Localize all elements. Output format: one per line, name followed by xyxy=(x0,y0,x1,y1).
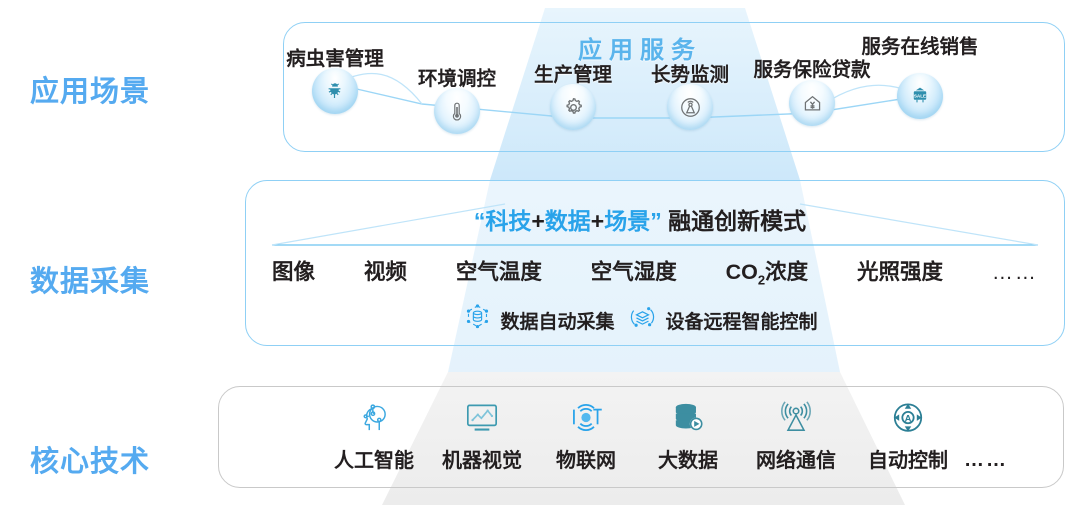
technology-item-list: 人工智能 机器视觉 xyxy=(320,396,1040,473)
bug-icon xyxy=(312,68,358,114)
svg-text:A: A xyxy=(905,413,912,424)
data-item-air-temp: 空气温度 xyxy=(456,255,542,286)
ai-head-icon xyxy=(353,396,395,440)
tech-item-label-autocontrol: 自动控制 xyxy=(868,444,948,473)
data-capability-auto-collect: 数据自动采集 xyxy=(462,302,614,338)
data-item-co2: CO2浓度 xyxy=(726,255,809,287)
row-label-application: 应用场景 xyxy=(30,68,150,110)
data-mode-part-6: 融通创新模式 xyxy=(662,208,806,234)
data-item-light: 光照强度 xyxy=(857,255,943,286)
row-label-technology: 核心技术 xyxy=(30,438,150,480)
app-node-label-insurance: 服务保险贷款 xyxy=(753,53,870,82)
data-mode-part-3: 数据 xyxy=(545,208,591,234)
signal-tower-icon xyxy=(667,84,713,130)
data-item-list: 图像 视频 空气温度 空气湿度 CO2浓度 光照强度 …… xyxy=(272,255,1038,287)
app-node-label-environment: 环境调控 xyxy=(418,62,496,91)
tech-item-label-vision: 机器视觉 xyxy=(442,444,522,473)
tech-item-label-ai: 人工智能 xyxy=(334,444,414,473)
data-capability-remote-control: 设备远程智能控制 xyxy=(628,302,818,338)
database-network-icon xyxy=(462,302,492,338)
database-stack-icon xyxy=(667,396,709,440)
app-node-label-pest: 病虫害管理 xyxy=(286,42,384,71)
tech-item-autocontrol: A 自动控制 xyxy=(852,396,964,473)
house-yuan-icon xyxy=(789,80,835,126)
data-item-video: 视频 xyxy=(364,255,407,286)
tech-item-iot: 物联网 xyxy=(536,396,636,473)
app-node-label-production: 生产管理 xyxy=(534,58,612,87)
row-label-data: 数据采集 xyxy=(30,258,150,300)
data-capability-label-auto-collect: 数据自动采集 xyxy=(500,307,614,334)
thermometer-icon xyxy=(434,88,480,134)
tech-item-ai: 人工智能 xyxy=(320,396,428,473)
data-mode-title: “科技+数据+场景” 融通创新模式 xyxy=(474,202,806,236)
tech-item-label-bigdata: 大数据 xyxy=(658,444,718,473)
sale-tag-icon: SALE xyxy=(897,73,943,119)
gear-icon xyxy=(550,84,596,130)
data-capability-label-remote-control: 设备远程智能控制 xyxy=(666,307,818,334)
data-capability-list: 数据自动采集 设备远程智能控制 xyxy=(462,302,817,338)
data-item-ellipsis: …… xyxy=(992,261,1038,285)
data-mode-part-1: “科技 xyxy=(474,208,532,234)
data-item-air-humidity: 空气湿度 xyxy=(591,255,677,286)
antenna-wave-icon xyxy=(775,396,817,440)
data-mode-part-4: + xyxy=(591,208,604,234)
layers-orbit-icon xyxy=(628,302,658,338)
data-item-image: 图像 xyxy=(272,255,315,286)
monitor-chart-icon xyxy=(461,396,503,440)
data-mode-part-2: + xyxy=(531,208,544,234)
co2-post: 浓度 xyxy=(765,260,808,284)
infographic-root: 应用场景 数据采集 核心技术 应用服务 病虫害管理 环境调控 生产管理 长势监测 xyxy=(0,0,1080,512)
iot-icon xyxy=(565,396,607,440)
co2-pre: CO xyxy=(726,260,758,284)
tech-item-bigdata: 大数据 xyxy=(636,396,740,473)
data-mode-part-5: 场景” xyxy=(604,208,662,234)
svg-text:SALE: SALE xyxy=(914,93,926,98)
tech-item-ellipsis: …… xyxy=(964,449,1008,473)
app-node-label-growth: 长势监测 xyxy=(651,58,729,87)
tech-item-network: 网络通信 xyxy=(740,396,852,473)
tech-item-vision: 机器视觉 xyxy=(428,396,536,473)
tech-item-label-network: 网络通信 xyxy=(756,444,836,473)
tech-item-label-iot: 物联网 xyxy=(556,444,616,473)
app-node-label-online-sales: 服务在线销售 xyxy=(861,30,978,59)
auto-control-icon: A xyxy=(887,396,929,440)
